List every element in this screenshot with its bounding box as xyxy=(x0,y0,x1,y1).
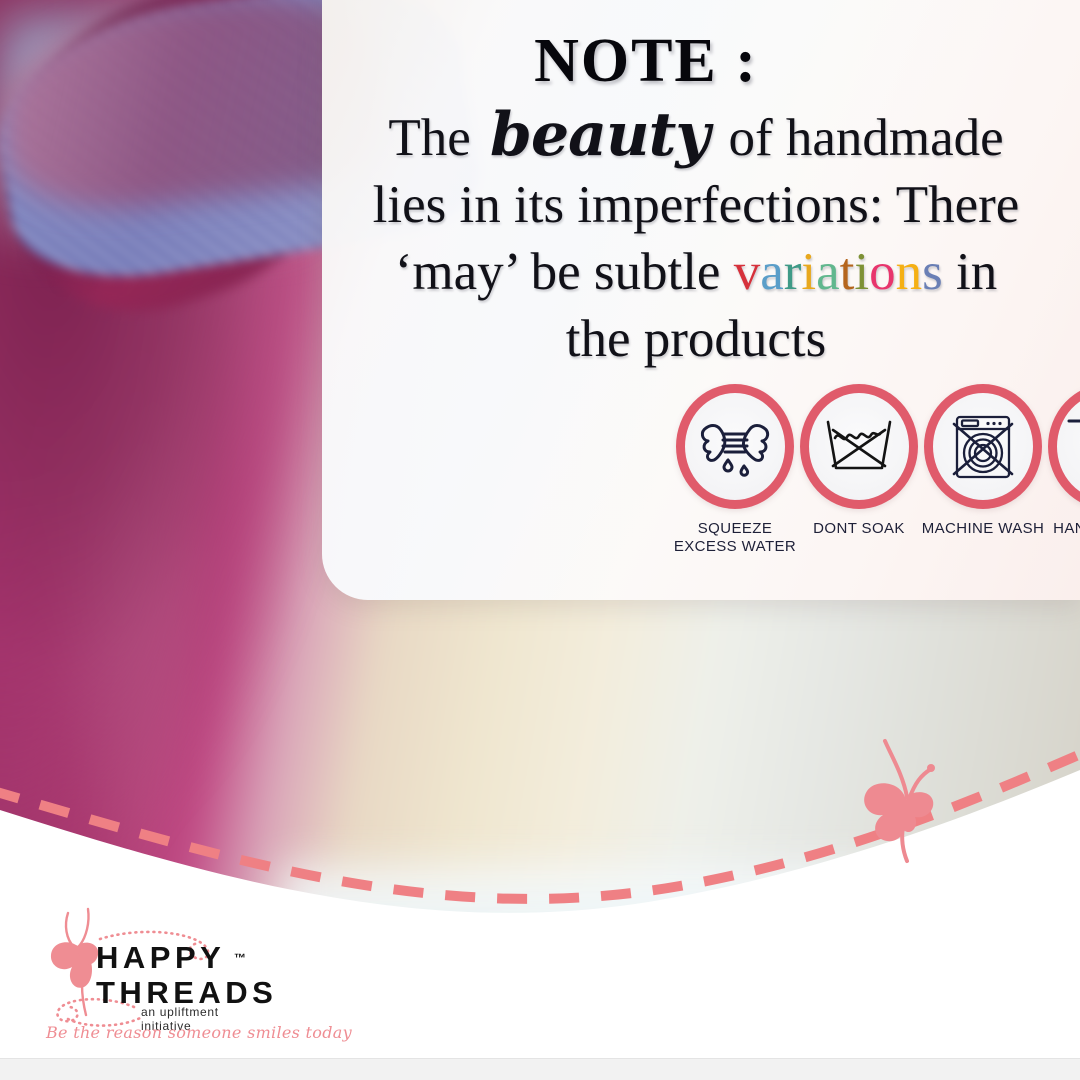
variations-letter-7: o xyxy=(869,243,896,301)
note-line-2: lies in its imperfections: There xyxy=(346,172,1046,239)
no-machine-wash-icon xyxy=(924,384,1042,509)
logo-tagline: Be the reason someone smiles today xyxy=(46,1023,352,1042)
note-line-1: The beauty of handmade xyxy=(346,102,1046,172)
logo-wordmark: HAPPY THREADS xyxy=(96,940,277,1010)
care-item-hang-to-dry[interactable]: HANG TO DRY xyxy=(1048,384,1080,538)
poster-canvas: NOTE : The beauty of handmade lies in it… xyxy=(0,0,1080,1080)
variations-letter-9: s xyxy=(922,243,943,301)
note-word-variations: variations xyxy=(734,243,943,301)
wring-cloth-icon xyxy=(676,384,794,509)
brand-logo[interactable]: HAPPY THREADS ™ an upliftment initiative… xyxy=(38,905,268,1055)
note-panel: NOTE : The beauty of handmade lies in it… xyxy=(322,0,1080,600)
care-label: HANG TO DRY xyxy=(1053,520,1080,538)
note-line-3-post: in xyxy=(943,243,997,301)
variations-letter-0: v xyxy=(734,243,761,301)
variations-letter-5: t xyxy=(840,243,855,301)
care-icons-row: SQUEEZE EXCESS WATER DONT SOAK xyxy=(670,384,1072,556)
trademark-symbol: ™ xyxy=(234,951,246,965)
logo-line-1: HAPPY xyxy=(96,940,225,975)
note-line-3-pre: ‘may’ be subtle xyxy=(395,243,734,301)
variations-letter-8: n xyxy=(896,243,923,301)
note-line-3: ‘may’ be subtle variations in xyxy=(346,239,1046,306)
hang-tshirt-line-icon xyxy=(1048,384,1080,509)
variations-letter-1: a xyxy=(760,243,784,301)
care-label: SQUEEZE EXCESS WATER xyxy=(670,520,800,556)
no-soak-tub-icon xyxy=(800,384,918,509)
care-label: MACHINE WASH xyxy=(918,520,1048,538)
care-item-machine-wash[interactable]: MACHINE WASH xyxy=(918,384,1048,538)
variations-letter-3: i xyxy=(801,243,816,301)
care-item-dont-soak[interactable]: DONT SOAK xyxy=(800,384,918,538)
note-line-4: the products xyxy=(346,306,1046,373)
variations-letter-4: a xyxy=(816,243,840,301)
care-label: DONT SOAK xyxy=(813,520,905,538)
note-word-beauty: beauty xyxy=(484,100,715,170)
note-body: The beauty of handmade lies in its imper… xyxy=(346,102,1046,373)
note-line-1-pre: The xyxy=(388,109,484,167)
care-item-squeeze-excess-water[interactable]: SQUEEZE EXCESS WATER xyxy=(670,384,800,556)
butterfly-icon xyxy=(845,735,955,865)
note-title: NOTE : xyxy=(322,26,1080,97)
variations-letter-6: i xyxy=(854,243,869,301)
bottom-edge-strip xyxy=(0,1058,1080,1080)
variations-letter-2: r xyxy=(784,243,802,301)
note-line-1-post: of handmade xyxy=(715,109,1003,167)
